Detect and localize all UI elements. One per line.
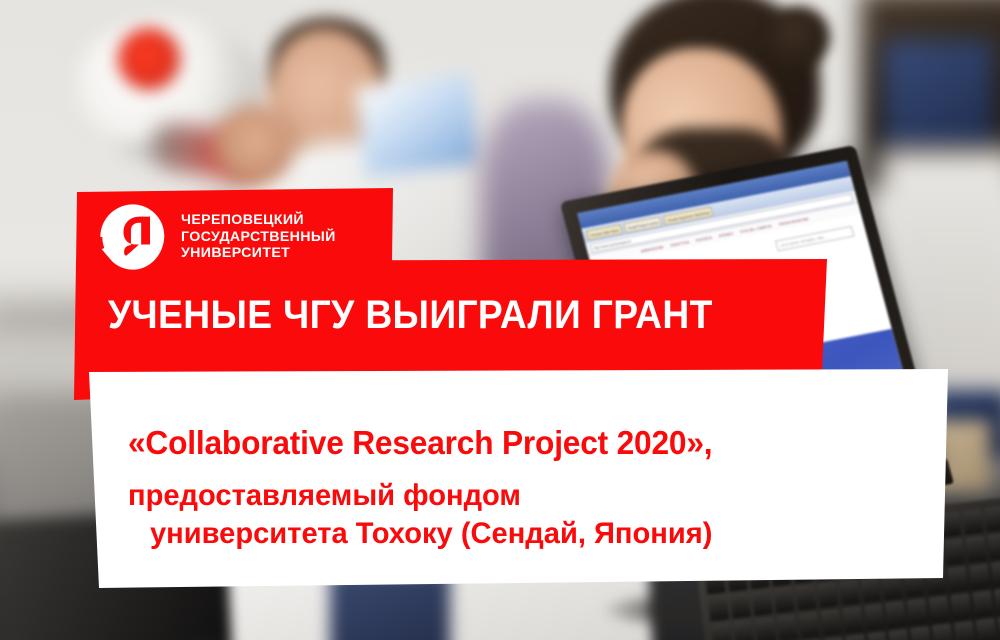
university-name: ЧЕРЕПОВЕЦКИЙ ГОСУДАРСТВЕННЫЙ УНИВЕРСИТЕТ xyxy=(181,212,336,261)
grant-subtitle-line-1: предоставляемый фондом xyxy=(128,477,904,515)
background-laptop-screen xyxy=(355,73,480,176)
headline-text: УЧЕНЫЕ ЧГУ ВЫИГРАЛИ ГРАНТ xyxy=(108,291,713,339)
background-shelf-books xyxy=(884,40,994,150)
university-logo: ЧЕРЕПОВЕЦКИЙ ГОСУДАРСТВЕННЫЙ УНИВЕРСИТЕТ xyxy=(99,203,336,271)
site-nav-item: ATENEO xyxy=(718,231,733,238)
site-nav-item: RICERCA xyxy=(695,235,712,242)
chsu-emblem-icon xyxy=(99,203,167,271)
university-name-line-2: ГОСУДАРСТВЕННЫЙ xyxy=(181,229,336,245)
university-name-line-3: УНИВЕРСИТЕТ xyxy=(181,245,336,261)
grant-subtitle-line-2: университета Тохоку (Сендай, Япония) xyxy=(150,515,905,553)
person-two-hair-bun xyxy=(768,6,830,68)
person-one-hand xyxy=(215,105,295,185)
site-nav-item: DIDATTICA xyxy=(670,240,690,247)
grant-title: «Collaborative Research Project 2020», xyxy=(128,423,896,463)
university-name-line-1: ЧЕРЕПОВЕЦКИЙ xyxy=(181,212,336,228)
poster-root: Chrome Web Store Gmail Posta in arrivo S… xyxy=(0,0,1000,640)
content-panel-text: «Collaborative Research Project 2020», п… xyxy=(128,423,928,553)
robot-eye xyxy=(118,28,180,90)
